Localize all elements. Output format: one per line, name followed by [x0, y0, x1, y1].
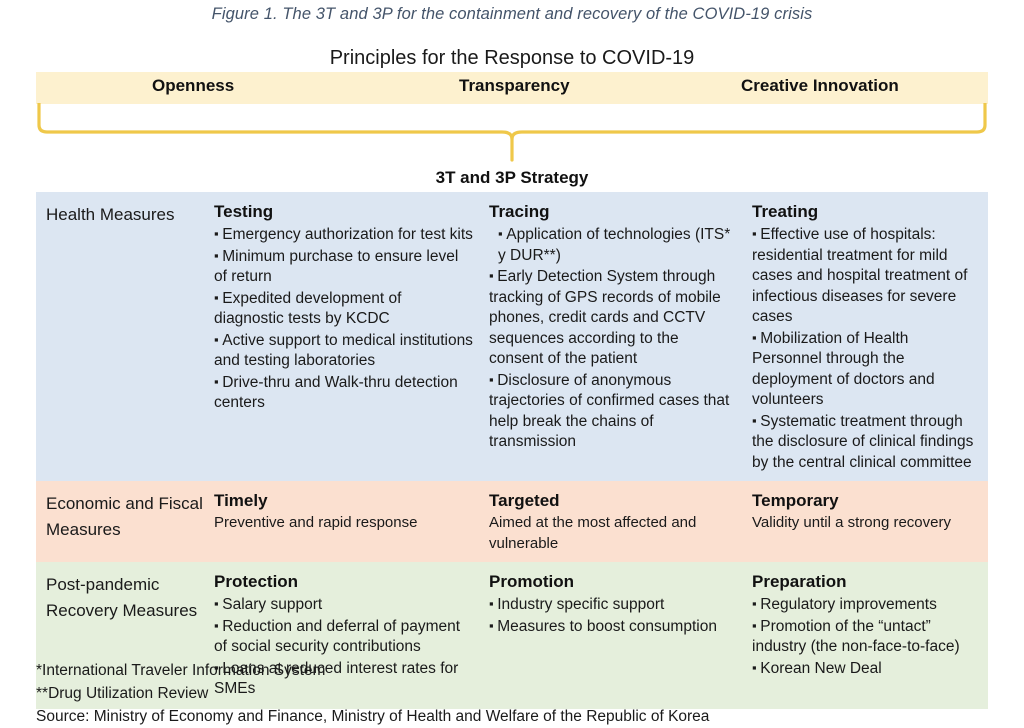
- cell-tracing: Tracing Application of technologies (ITS…: [485, 192, 748, 481]
- cell-bullets-promotion: Industry specific support Measures to bo…: [489, 594, 736, 637]
- matrix-row-health-measures: Health Measures Testing Emergency author…: [36, 192, 988, 481]
- footnote-its: *International Traveler Information Syst…: [36, 659, 996, 682]
- list-item: Application of technologies (ITS* y DUR*…: [489, 224, 736, 266]
- curly-brace-connector: [36, 103, 988, 163]
- principles-band: Openness Transparency Creative Innovatio…: [36, 72, 988, 104]
- list-item: Reduction and deferral of payment of soc…: [214, 616, 473, 658]
- footnote-dur: **Drug Utilization Review: [36, 682, 996, 705]
- cell-treating: Treating Effective use of hospitals: res…: [748, 192, 988, 481]
- list-item: Systematic treatment through the disclos…: [752, 411, 980, 474]
- cell-text-timely: Preventive and rapid response: [214, 513, 473, 534]
- cell-head-targeted: Targeted: [489, 490, 736, 512]
- list-item: Effective use of hospitals: residential …: [752, 224, 980, 328]
- list-item: Regulatory improvements: [752, 594, 980, 616]
- principle-transparency: Transparency: [459, 76, 570, 96]
- cell-text-targeted: Aimed at the most affected and vulnerabl…: [489, 513, 736, 554]
- footnotes: *International Traveler Information Syst…: [36, 659, 996, 728]
- cell-head-temporary: Temporary: [752, 490, 980, 512]
- cell-head-promotion: Promotion: [489, 571, 736, 593]
- footnote-source: Source: Ministry of Economy and Finance,…: [36, 705, 996, 728]
- figure-caption: Figure 1. The 3T and 3P for the containm…: [0, 5, 1024, 24]
- cell-head-preparation: Preparation: [752, 571, 980, 593]
- principle-creative-innovation: Creative Innovation: [741, 76, 899, 96]
- brace-icon: [36, 103, 988, 163]
- list-item: Expedited development of diagnostic test…: [214, 288, 473, 330]
- cell-head-tracing: Tracing: [489, 201, 736, 223]
- principle-openness: Openness: [152, 76, 234, 96]
- cell-head-testing: Testing: [214, 201, 473, 223]
- list-item: Measures to boost consumption: [489, 616, 736, 638]
- cell-temporary: Temporary Validity until a strong recove…: [748, 481, 988, 562]
- list-item: Disclosure of anonymous trajectories of …: [489, 370, 736, 453]
- list-item: Industry specific support: [489, 594, 736, 616]
- matrix-row-economic-fiscal-measures: Economic and Fiscal Measures Timely Prev…: [36, 481, 988, 562]
- row-label-economic: Economic and Fiscal Measures: [36, 481, 210, 562]
- list-item: Drive-thru and Walk-thru detection cente…: [214, 372, 473, 414]
- cell-bullets-treating: Effective use of hospitals: residential …: [752, 224, 980, 473]
- principles-title: Principles for the Response to COVID-19: [0, 47, 1024, 70]
- list-item: Salary support: [214, 594, 473, 616]
- cell-head-protection: Protection: [214, 571, 473, 593]
- row-label-health: Health Measures: [36, 192, 210, 481]
- list-item: Promotion of the “untact” industry (the …: [752, 616, 980, 658]
- strategy-matrix: Health Measures Testing Emergency author…: [36, 192, 988, 709]
- cell-testing: Testing Emergency authorization for test…: [210, 192, 485, 481]
- list-item: Minimum purchase to ensure level of retu…: [214, 246, 473, 288]
- cell-head-treating: Treating: [752, 201, 980, 223]
- cell-bullets-tracing: Application of technologies (ITS* y DUR*…: [489, 224, 736, 453]
- list-item: Early Detection System through tracking …: [489, 266, 736, 370]
- list-item: Emergency authorization for test kits: [214, 224, 473, 246]
- list-item: Mobilization of Health Personnel through…: [752, 328, 980, 411]
- cell-timely: Timely Preventive and rapid response: [210, 481, 485, 562]
- cell-text-temporary: Validity until a strong recovery: [752, 513, 980, 534]
- cell-bullets-testing: Emergency authorization for test kits Mi…: [214, 224, 473, 414]
- cell-targeted: Targeted Aimed at the most affected and …: [485, 481, 748, 562]
- list-item: Active support to medical institutions a…: [214, 330, 473, 372]
- strategy-title: 3T and 3P Strategy: [0, 168, 1024, 188]
- cell-head-timely: Timely: [214, 490, 473, 512]
